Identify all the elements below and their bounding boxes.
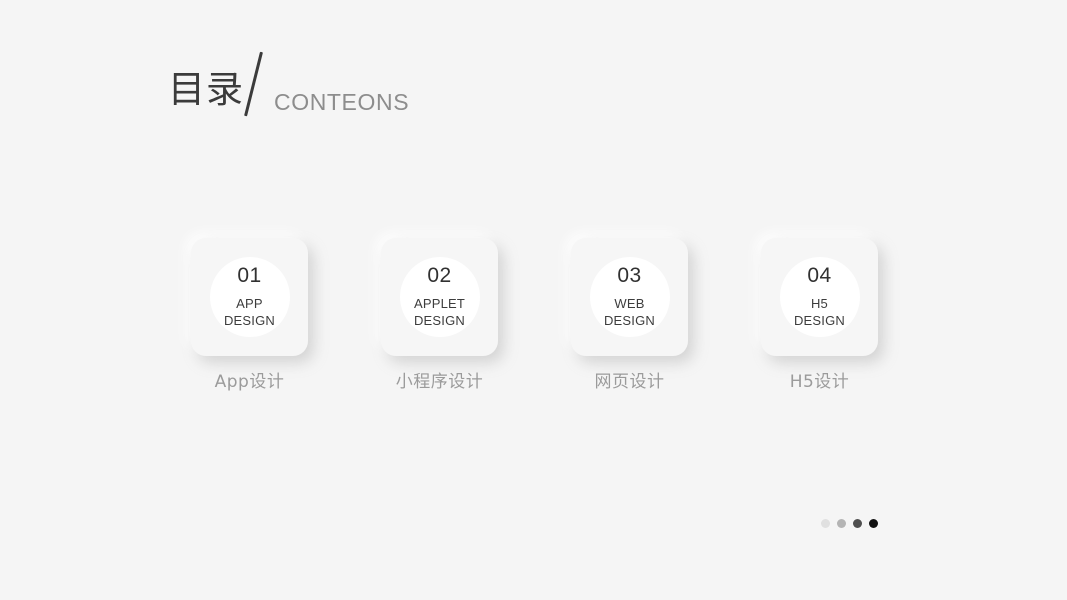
title-row: 目录 CONTEONS [168,52,409,124]
card-text: 04 H5 DESIGN [794,265,845,329]
pagination-dot-4[interactable] [869,519,878,528]
card-text: 02 APPLET DESIGN [414,265,465,329]
pagination-dot-1[interactable] [821,519,830,528]
catalog-item-01[interactable]: 01 APP DESIGN App设计 [191,238,308,391]
catalog-card-list: 01 APP DESIGN App设计 02 APPLET DESIGN 小程序… [191,238,878,391]
catalog-item-03[interactable]: 03 WEB DESIGN 网页设计 [571,238,688,391]
card-tile[interactable]: 02 APPLET DESIGN [381,238,498,356]
page-title-chinese: 目录 [168,71,244,124]
page-title-english: CONTEONS [274,91,409,124]
catalog-item-02[interactable]: 02 APPLET DESIGN 小程序设计 [381,238,498,391]
card-tile[interactable]: 03 WEB DESIGN [571,238,688,356]
card-label: App设计 [215,374,285,391]
card-label: H5设计 [790,374,850,391]
pagination-dots[interactable] [821,519,878,528]
card-number: 03 [604,265,655,286]
pagination-dot-2[interactable] [837,519,846,528]
card-tile[interactable]: 04 H5 DESIGN [761,238,878,356]
card-label: 网页设计 [595,374,665,391]
card-label: 小程序设计 [396,374,484,391]
card-subtitle: APP DESIGN [224,295,275,329]
card-number: 02 [414,265,465,286]
card-tile[interactable]: 01 APP DESIGN [191,238,308,356]
slide-canvas: 目录 CONTEONS 01 APP DESIGN App设计 02 APPLE… [0,0,1067,600]
card-text: 01 APP DESIGN [224,265,275,329]
card-subtitle: H5 DESIGN [794,295,845,329]
card-text: 03 WEB DESIGN [604,265,655,329]
slash-divider-icon [244,52,278,124]
page-title: 目录 CONTEONS [168,52,409,124]
card-subtitle: WEB DESIGN [604,295,655,329]
pagination-dot-3[interactable] [853,519,862,528]
card-number: 04 [794,265,845,286]
card-subtitle: APPLET DESIGN [414,295,465,329]
card-number: 01 [224,265,275,286]
catalog-item-04[interactable]: 04 H5 DESIGN H5设计 [761,238,878,391]
